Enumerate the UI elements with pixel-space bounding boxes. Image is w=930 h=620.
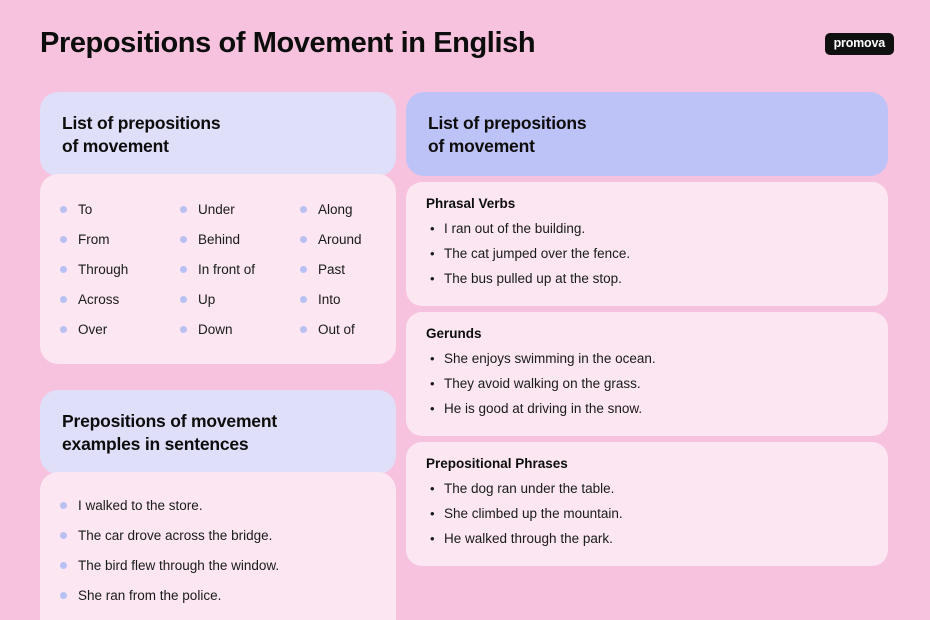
list-item: From xyxy=(60,224,180,254)
list-item: They avoid walking on the grass. xyxy=(426,371,868,396)
list-item: The cat jumped over the fence. xyxy=(426,241,868,266)
bullet-dot-icon xyxy=(60,326,67,333)
preposition-label: Up xyxy=(198,292,215,307)
example-sentence: She ran from the police. xyxy=(78,588,221,603)
preposition-label: Under xyxy=(198,202,235,217)
preposition-label: Out of xyxy=(318,322,355,337)
bullet-dot-icon xyxy=(300,266,307,273)
list-item: I ran out of the building. xyxy=(426,216,868,241)
bullet-dot-icon xyxy=(60,266,67,273)
preposition-label: Through xyxy=(78,262,128,277)
list-item: Down xyxy=(180,314,300,344)
examples-header-title: Prepositions of movement examples in sen… xyxy=(62,410,374,456)
bullet-dot-icon xyxy=(180,236,187,243)
page-header: Prepositions of Movement in English prom… xyxy=(40,28,894,78)
preposition-label: From xyxy=(78,232,110,247)
list-item: The dog ran under the table. xyxy=(426,476,868,501)
example-sentence: I walked to the store. xyxy=(78,498,203,513)
list-item: Over xyxy=(60,314,180,344)
list-item: In front of xyxy=(180,254,300,284)
preposition-label: In front of xyxy=(198,262,255,277)
bullet-dot-icon xyxy=(180,326,187,333)
preposition-label: Across xyxy=(78,292,119,307)
prepositions-list-header: List of prepositions of movement xyxy=(40,92,396,176)
list-item: The car drove across the bridge. xyxy=(60,520,376,550)
list-item: To xyxy=(60,194,180,224)
bullet-dot-icon xyxy=(180,296,187,303)
prepositions-list-block: List of prepositions of movement To Unde… xyxy=(40,92,396,364)
card-title: Gerunds xyxy=(426,326,868,341)
bullet-dot-icon xyxy=(300,236,307,243)
list-item: She ran from the police. xyxy=(60,580,376,610)
preposition-label: Into xyxy=(318,292,341,307)
preposition-label: Down xyxy=(198,322,233,337)
list-item: He is good at driving in the snow. xyxy=(426,396,868,421)
list-item: Past xyxy=(300,254,376,284)
list-item: Behind xyxy=(180,224,300,254)
preposition-label: To xyxy=(78,202,92,217)
bullet-dot-icon xyxy=(180,206,187,213)
list-item: He walked through the park. xyxy=(426,526,868,551)
card-title: Phrasal Verbs xyxy=(426,196,868,211)
phrasal-verbs-card: Phrasal Verbs I ran out of the building.… xyxy=(406,182,888,306)
left-column: List of prepositions of movement To Unde… xyxy=(40,92,396,620)
bullet-dot-icon xyxy=(60,236,67,243)
preposition-label: Along xyxy=(318,202,353,217)
card-title: Prepositional Phrases xyxy=(426,456,868,471)
preposition-label: Behind xyxy=(198,232,240,247)
promova-logo: promova xyxy=(825,33,894,55)
right-column-header-title: List of prepositions of movement xyxy=(428,112,866,158)
list-item: Out of xyxy=(300,314,376,344)
list-item: She enjoys swimming in the ocean. xyxy=(426,346,868,371)
examples-body: I walked to the store. The car drove acr… xyxy=(40,472,396,620)
bullet-dot-icon xyxy=(60,502,67,509)
preposition-label: Past xyxy=(318,262,345,277)
bullet-dot-icon xyxy=(60,206,67,213)
list-item: The bird flew through the window. xyxy=(60,550,376,580)
list-item: He cycled around the park. xyxy=(60,610,376,620)
bullet-dot-icon xyxy=(180,266,187,273)
list-item: Up xyxy=(180,284,300,314)
list-item: Into xyxy=(300,284,376,314)
prepositions-list-body: To Under Along From Behind xyxy=(40,174,396,364)
list-item: Along xyxy=(300,194,376,224)
list-item: Through xyxy=(60,254,180,284)
gerunds-card: Gerunds She enjoys swimming in the ocean… xyxy=(406,312,888,436)
bullet-dot-icon xyxy=(300,296,307,303)
preposition-label: Around xyxy=(318,232,362,247)
bullet-dot-icon xyxy=(60,562,67,569)
list-item: I walked to the store. xyxy=(60,490,376,520)
page-title: Prepositions of Movement in English xyxy=(40,28,894,60)
prepositions-grid: To Under Along From Behind xyxy=(40,174,396,364)
prepositions-list-header-title: List of prepositions of movement xyxy=(62,112,374,158)
example-sentence: The car drove across the bridge. xyxy=(78,528,272,543)
list-item: Across xyxy=(60,284,180,314)
bullet-dot-icon xyxy=(60,296,67,303)
examples-header: Prepositions of movement examples in sen… xyxy=(40,390,396,474)
bullet-dot-icon xyxy=(300,206,307,213)
bullet-dot-icon xyxy=(60,592,67,599)
bullet-dot-icon xyxy=(300,326,307,333)
preposition-label: Over xyxy=(78,322,107,337)
examples-list: I walked to the store. The car drove acr… xyxy=(40,472,396,620)
list-item: Around xyxy=(300,224,376,254)
right-column: List of prepositions of movement Phrasal… xyxy=(406,92,888,566)
bullet-dot-icon xyxy=(60,532,67,539)
prepositional-phrases-card: Prepositional Phrases The dog ran under … xyxy=(406,442,888,566)
example-sentence: The bird flew through the window. xyxy=(78,558,279,573)
examples-block: Prepositions of movement examples in sen… xyxy=(40,390,396,620)
list-item: The bus pulled up at the stop. xyxy=(426,266,868,291)
list-item: She climbed up the mountain. xyxy=(426,501,868,526)
right-column-header: List of prepositions of movement xyxy=(406,92,888,176)
list-item: Under xyxy=(180,194,300,224)
